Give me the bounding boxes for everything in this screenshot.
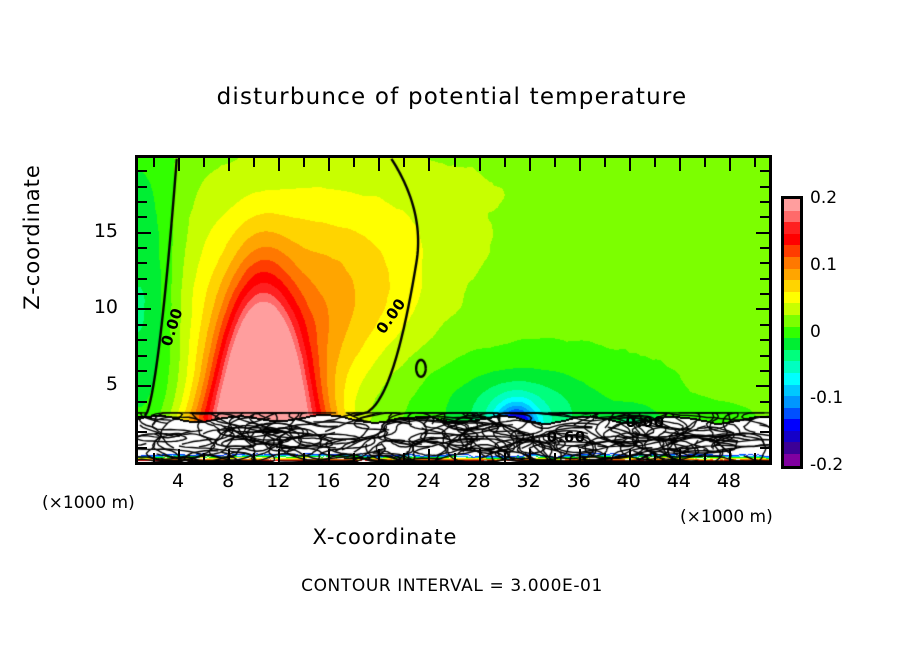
y-tick <box>760 247 769 249</box>
x-tick <box>228 449 230 462</box>
y-tick <box>138 308 151 310</box>
x-tick <box>479 158 481 171</box>
contour-label: 0.00 <box>626 413 665 431</box>
x-tick <box>178 158 180 171</box>
y-tick <box>138 278 147 280</box>
y-tick <box>760 447 769 449</box>
colorbar-band <box>784 222 800 234</box>
y-tick-label: 5 <box>0 373 118 395</box>
y-tick <box>760 416 769 418</box>
x-tick <box>253 453 255 462</box>
colorbar-band <box>784 303 800 315</box>
colorbar-band <box>784 350 800 362</box>
x-tick <box>604 158 606 167</box>
y-tick <box>760 355 769 357</box>
x-tick <box>454 453 456 462</box>
y-tick <box>760 370 769 372</box>
colorbar-band <box>784 280 800 292</box>
x-unit-right-label: (×1000 m) <box>680 507 773 527</box>
x-tick <box>704 453 706 462</box>
x-tick <box>328 158 330 171</box>
x-tick <box>353 453 355 462</box>
y-tick <box>138 247 147 249</box>
colorbar <box>781 196 803 469</box>
y-tick <box>138 385 151 387</box>
y-tick <box>138 447 147 449</box>
x-tick-label: 48 <box>699 470 759 492</box>
colorbar-band <box>784 431 800 443</box>
x-tick <box>278 158 280 171</box>
x-tick <box>504 453 506 462</box>
y-tick <box>138 170 147 172</box>
x-tick <box>554 453 556 462</box>
colorbar-band <box>784 361 800 373</box>
x-tick <box>529 449 531 462</box>
colorbar-band <box>784 292 800 304</box>
x-tick <box>403 453 405 462</box>
y-tick <box>138 324 147 326</box>
x-tick <box>679 449 681 462</box>
x-tick <box>428 449 430 462</box>
x-tick <box>403 158 405 167</box>
colorbar-band <box>784 234 800 246</box>
x-tick <box>278 449 280 462</box>
colorbar-band <box>784 396 800 408</box>
x-tick <box>178 449 180 462</box>
y-tick <box>756 385 769 387</box>
y-tick <box>760 262 769 264</box>
colorbar-band <box>784 257 800 269</box>
x-unit-left-label: (×1000 m) <box>42 493 135 513</box>
x-tick <box>353 158 355 167</box>
y-tick <box>760 293 769 295</box>
colorbar-band <box>784 211 800 223</box>
figure-canvas: disturbunce of potential temperature 0.0… <box>0 0 904 654</box>
colorbar-tick-label: 0.2 <box>810 188 837 208</box>
contour-label: 0.60 <box>547 428 586 446</box>
colorbar-band <box>784 199 800 211</box>
colorbar-band <box>784 408 800 420</box>
y-tick <box>138 216 147 218</box>
x-tick <box>704 158 706 167</box>
y-tick <box>760 186 769 188</box>
y-tick <box>138 416 147 418</box>
colorbar-band <box>784 454 800 466</box>
x-tick <box>378 449 380 462</box>
y-tick <box>760 401 769 403</box>
y-tick <box>138 431 147 433</box>
x-tick <box>303 453 305 462</box>
x-tick <box>454 158 456 167</box>
y-tick <box>760 216 769 218</box>
x-tick <box>529 158 531 171</box>
x-tick <box>428 158 430 171</box>
contour-interval-caption: CONTOUR INTERVAL = 3.000E-01 <box>0 576 904 596</box>
y-tick <box>760 278 769 280</box>
colorbar-band <box>784 373 800 385</box>
x-tick <box>479 449 481 462</box>
y-tick <box>138 293 147 295</box>
colorbar-tick-label: -0.1 <box>810 388 843 408</box>
page-title: disturbunce of potential temperature <box>0 84 904 110</box>
x-tick <box>679 158 681 171</box>
y-tick-label: 15 <box>0 220 118 242</box>
y-tick <box>760 431 769 433</box>
y-tick <box>138 355 147 357</box>
colorbar-band <box>784 245 800 257</box>
colorbar-tick-label: -0.2 <box>810 455 843 475</box>
x-tick <box>729 158 731 171</box>
x-tick <box>754 453 756 462</box>
y-tick <box>760 170 769 172</box>
x-tick <box>153 453 155 462</box>
x-tick <box>754 158 756 167</box>
y-tick <box>138 232 151 234</box>
y-tick <box>760 339 769 341</box>
x-tick <box>203 453 205 462</box>
x-tick <box>629 449 631 462</box>
y-tick <box>138 370 147 372</box>
colorbar-tick-label: 0.1 <box>810 255 837 275</box>
colorbar-band <box>784 385 800 397</box>
colorbar-band <box>784 442 800 454</box>
y-tick <box>756 232 769 234</box>
x-tick <box>504 158 506 167</box>
colorbar-band <box>784 419 800 431</box>
x-tick <box>378 158 380 171</box>
x-tick <box>579 158 581 171</box>
colorbar-band <box>784 338 800 350</box>
x-tick <box>303 158 305 167</box>
x-tick <box>554 158 556 167</box>
x-tick <box>253 158 255 167</box>
x-tick <box>654 158 656 167</box>
x-tick <box>604 453 606 462</box>
y-tick <box>756 308 769 310</box>
y-axis-title: Z-coordinate <box>20 87 44 387</box>
x-tick <box>328 449 330 462</box>
colorbar-band <box>784 315 800 327</box>
y-tick <box>138 262 147 264</box>
contour-field <box>138 158 769 462</box>
colorbar-tick-label: 0 <box>810 322 821 342</box>
x-tick <box>228 158 230 171</box>
contour-plot-area: 0.000.000.600.00 <box>135 155 772 465</box>
y-tick <box>138 339 147 341</box>
x-axis-title: X-coordinate <box>0 525 770 549</box>
y-tick <box>138 186 147 188</box>
y-tick <box>138 401 147 403</box>
x-tick <box>654 453 656 462</box>
y-tick <box>760 324 769 326</box>
x-tick <box>629 158 631 171</box>
y-tick <box>760 201 769 203</box>
x-tick <box>153 158 155 167</box>
y-tick <box>138 201 147 203</box>
x-tick <box>579 449 581 462</box>
colorbar-band <box>784 269 800 281</box>
x-tick <box>729 449 731 462</box>
y-tick-label: 10 <box>0 296 118 318</box>
colorbar-band <box>784 327 800 339</box>
x-tick <box>203 158 205 167</box>
